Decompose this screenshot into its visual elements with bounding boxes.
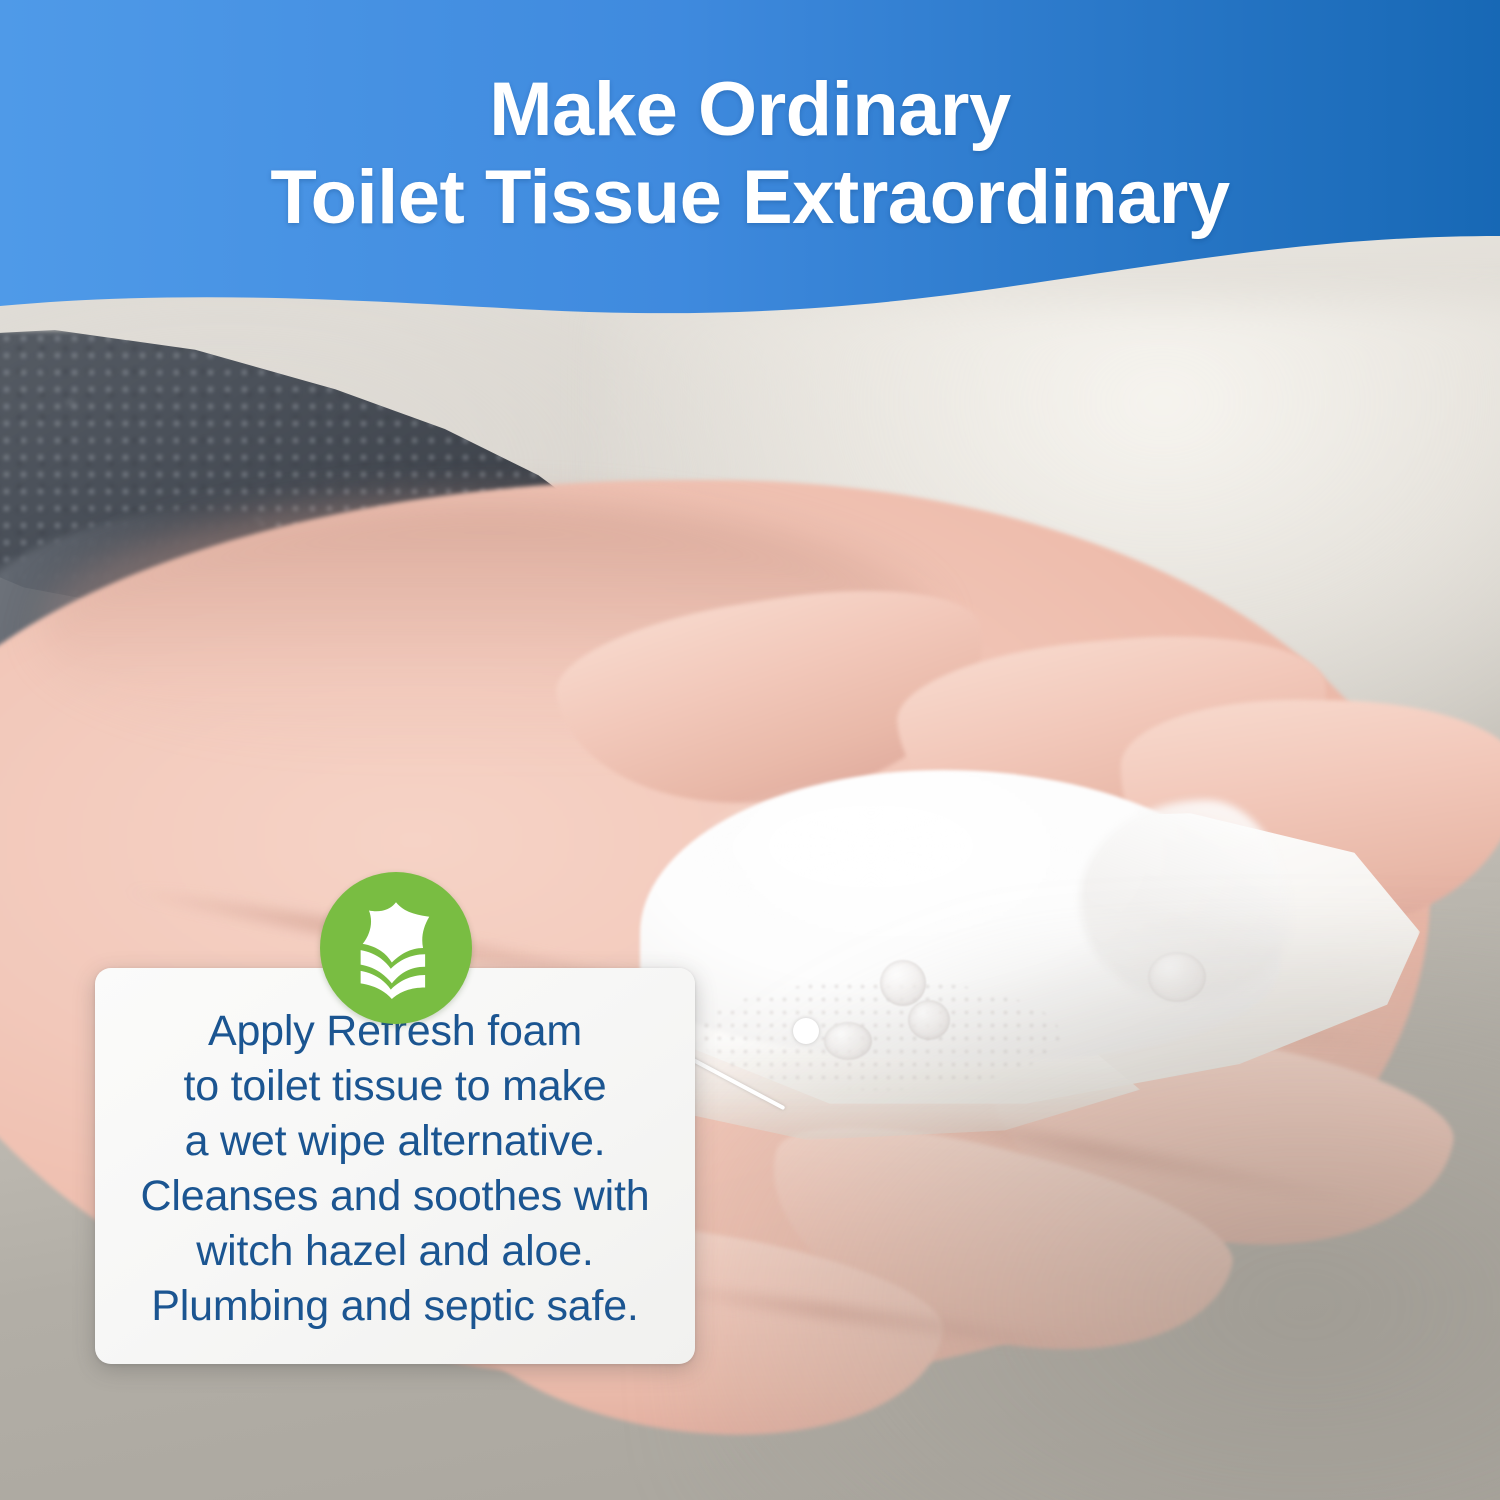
- page-title: Make Ordinary Toilet Tissue Extraordinar…: [0, 66, 1500, 242]
- stacked-tissue-sheets-icon: [344, 896, 448, 1000]
- tissue-badge: [320, 872, 472, 1024]
- foam-highlight: [700, 790, 1080, 930]
- counter-vignette: [675, 930, 1500, 1500]
- info-card-text: Apply Refresh foam to toilet tissue to m…: [141, 1004, 650, 1334]
- callout-dot: [793, 1018, 819, 1044]
- product-infographic: Make Ordinary Toilet Tissue Extraordinar…: [0, 0, 1500, 1500]
- info-card: Apply Refresh foam to toilet tissue to m…: [95, 968, 695, 1364]
